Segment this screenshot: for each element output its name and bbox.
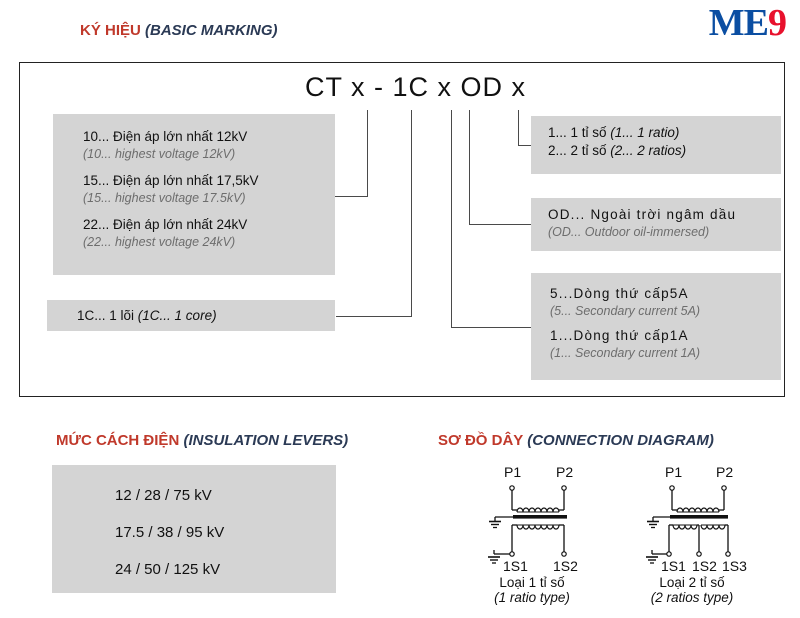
diagram-caption-vn: Loại 1 tỉ số [452, 575, 612, 590]
me9-logo: ME9 [709, 4, 786, 42]
diagram-caption-one-ratio: Loại 1 tỉ số (1 ratio type) [452, 575, 612, 605]
heading-connection-en: (CONNECTION DIAGRAM) [527, 432, 714, 449]
insulation-levels-table: 12 / 28 / 75 kV 17.5 / 38 / 95 kV 24 / 5… [52, 465, 336, 593]
heading-basic-marking: KÝ HIỆU (BASIC MARKING) [80, 22, 278, 39]
voltage-item: 15... Điện áp lớn nhất 17,5kV (15... hig… [83, 172, 335, 207]
core-box-en: (1C... 1 core) [138, 308, 217, 323]
heading-connection: SƠ ĐỒ DÂY (CONNECTION DIAGRAM) [438, 432, 714, 449]
leader-line-ratio-horizontal [518, 145, 532, 146]
terminal-label-p2: P2 [716, 464, 733, 480]
voltage-item-vn: 22... Điện áp lớn nhất 24kV [83, 216, 335, 234]
leader-line-ct-vertical [367, 110, 368, 197]
terminal-label-1s2: 1S2 [553, 558, 578, 574]
secondary-current-box: 5...Dòng thứ cấp5A (5... Secondary curre… [531, 273, 781, 380]
heading-insulation-en: (INSULATION LEVERS) [183, 432, 348, 449]
voltage-item-en: (15... highest voltage 17.5kV) [83, 190, 335, 207]
secondary-item-vn: 5...Dòng thứ cấp5A [550, 285, 781, 303]
voltage-item-vn: 10... Điện áp lớn nhất 12kV [83, 128, 335, 146]
ratio-count-box: 1... 1 tỉ số (1... 1 ratio) 2... 2 tỉ số… [531, 116, 781, 174]
heading-insulation: MỨC CÁCH ĐIỆN (INSULATION LEVERS) [56, 432, 348, 449]
voltage-item-en: (10... highest voltage 12kV) [83, 146, 335, 163]
diagram-caption-en: (1 ratio type) [452, 590, 612, 605]
diagram-caption-vn: Loại 2 tỉ số [612, 575, 772, 590]
heading-connection-vn: SƠ ĐỒ DÂY [438, 432, 523, 449]
od-box-vn: OD... Ngoài trời ngâm dầu [548, 206, 781, 224]
diagram-caption-two-ratio: Loại 2 tỉ số (2 ratios type) [612, 575, 772, 605]
insulation-level-row: 17.5 / 38 / 95 kV [52, 524, 336, 541]
leader-line-core-vertical [411, 110, 412, 317]
leader-line-od-vertical [469, 110, 470, 225]
voltage-item: 22... Điện áp lớn nhất 24kV (22... highe… [83, 216, 335, 251]
ratio-item-en: (1... 1 ratio) [610, 125, 679, 140]
terminal-label-p1: P1 [504, 464, 521, 480]
logo-accent-text: 9 [768, 2, 786, 44]
voltage-item-vn: 15... Điện áp lớn nhất 17,5kV [83, 172, 335, 190]
voltage-rating-box: 10... Điện áp lớn nhất 12kV (10... highe… [53, 114, 335, 275]
secondary-item: 5...Dòng thứ cấp5A (5... Secondary curre… [550, 285, 781, 320]
heading-basic-marking-en: (BASIC MARKING) [145, 22, 278, 39]
secondary-item: 1...Dòng thứ cấp1A (1... Secondary curre… [550, 327, 781, 362]
leader-line-ratio-vertical [518, 110, 519, 146]
terminal-label-p2: P2 [556, 464, 573, 480]
ratio-item-vn: 1... 1 tỉ số [548, 125, 607, 140]
product-code-title: CT x - 1C x OD x [305, 72, 526, 103]
outdoor-type-box: OD... Ngoài trời ngâm dầu (OD... Outdoor… [531, 198, 781, 251]
terminal-label-1s1: 1S1 [503, 558, 528, 574]
heading-basic-marking-vn: KÝ HIỆU [80, 22, 141, 39]
page-root: ME9 KÝ HIỆU (BASIC MARKING) CT x - 1C x … [0, 0, 800, 618]
heading-insulation-vn: MỨC CÁCH ĐIỆN [56, 432, 179, 449]
ratio-item-vn: 2... 2 tỉ số [548, 143, 607, 158]
voltage-item: 10... Điện áp lớn nhất 12kV (10... highe… [83, 128, 335, 163]
secondary-item-vn: 1...Dòng thứ cấp1A [550, 327, 781, 345]
terminal-label-1s2: 1S2 [692, 558, 717, 574]
core-count-box: 1C... 1 lõi (1C... 1 core) [47, 300, 335, 331]
leader-line-od-horizontal [469, 224, 531, 225]
leader-line-secondary-vertical [451, 110, 452, 328]
connection-diagram-two-ratio: P1 P2 1S1 1S2 1S3 [640, 460, 800, 610]
terminal-label-1s3: 1S3 [722, 558, 747, 574]
ratio-item-en: (2... 2 ratios) [610, 143, 686, 158]
terminal-label-p1: P1 [665, 464, 682, 480]
terminal-label-1s1: 1S1 [661, 558, 686, 574]
secondary-item-en: (5... Secondary current 5A) [550, 303, 781, 320]
core-box-vn: 1C... 1 lõi [77, 308, 134, 323]
leader-line-secondary-horizontal [451, 327, 531, 328]
ratio-item-line: 2... 2 tỉ số (2... 2 ratios) [548, 142, 781, 160]
voltage-item-en: (22... highest voltage 24kV) [83, 234, 335, 251]
ratio-item-line: 1... 1 tỉ số (1... 1 ratio) [548, 124, 781, 142]
od-box-en: (OD... Outdoor oil-immersed) [548, 224, 781, 241]
secondary-item-en: (1... Secondary current 1A) [550, 345, 781, 362]
insulation-level-row: 12 / 28 / 75 kV [52, 465, 336, 504]
diagram-caption-en: (2 ratios type) [612, 590, 772, 605]
insulation-level-row: 24 / 50 / 125 kV [52, 561, 336, 578]
logo-primary-text: ME [709, 2, 768, 44]
leader-line-core-horizontal [336, 316, 412, 317]
